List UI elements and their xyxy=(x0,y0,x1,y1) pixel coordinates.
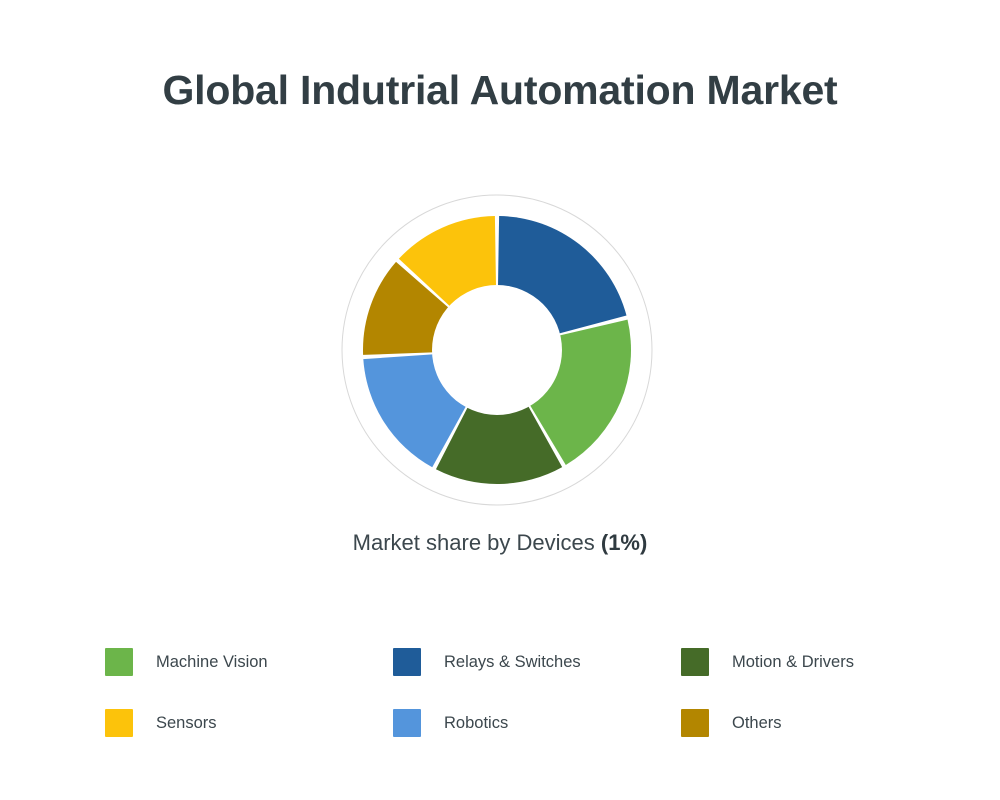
legend-item-label: Sensors xyxy=(156,714,217,733)
legend-color-swatch xyxy=(681,648,709,676)
legend-item[interactable]: Sensors xyxy=(105,706,393,740)
legend-color-swatch xyxy=(393,648,421,676)
legend-color-swatch xyxy=(681,709,709,737)
donut-chart-svg xyxy=(341,194,653,506)
legend-item[interactable]: Robotics xyxy=(393,706,681,740)
legend-item-label: Relays & Switches xyxy=(444,653,581,672)
legend-item-label: Robotics xyxy=(444,714,508,733)
legend-item-label: Others xyxy=(732,714,782,733)
chart-legend: Machine VisionRelays & SwitchesMotion & … xyxy=(105,645,925,767)
legend-item[interactable]: Machine Vision xyxy=(105,645,393,679)
chart-canvas: Global Indutrial Automation Market Marke… xyxy=(0,0,1000,800)
chart-subtitle: Market share by Devices (1%) xyxy=(150,530,850,556)
legend-color-swatch xyxy=(393,709,421,737)
legend-color-swatch xyxy=(105,709,133,737)
legend-item[interactable]: Relays & Switches xyxy=(393,645,681,679)
page-title: Global Indutrial Automation Market xyxy=(150,62,850,118)
chart-subtitle-percent: (1%) xyxy=(601,530,647,555)
donut-chart xyxy=(341,194,653,506)
legend-item-label: Motion & Drivers xyxy=(732,653,854,672)
legend-item[interactable]: Others xyxy=(681,706,925,740)
legend-color-swatch xyxy=(105,648,133,676)
chart-subtitle-text: Market share by Devices xyxy=(353,530,601,555)
legend-item[interactable]: Motion & Drivers xyxy=(681,645,925,679)
donut-hole xyxy=(432,285,562,415)
legend-item-label: Machine Vision xyxy=(156,653,268,672)
